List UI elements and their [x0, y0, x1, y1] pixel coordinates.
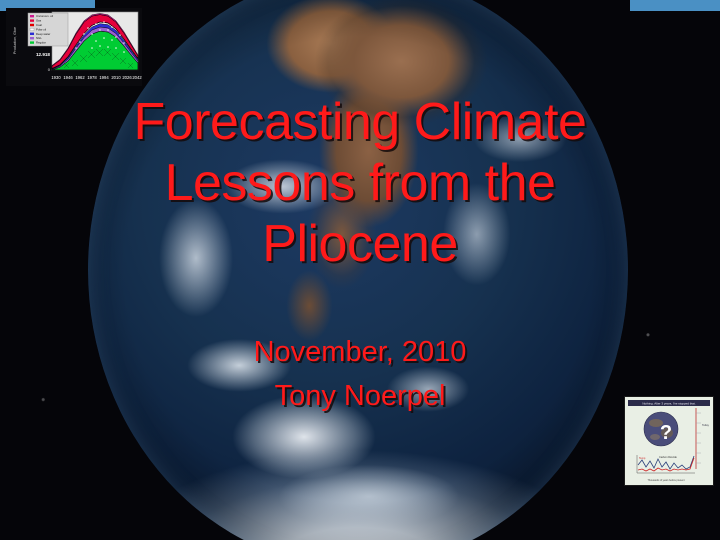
chart-x-tick-labels: 193019461962 197819942010 20262042 [51, 75, 142, 80]
svg-text:1962: 1962 [75, 75, 85, 80]
thumbnail-globe-land-c [650, 434, 660, 440]
slide-title: Forecasting Climate Lessons from the Pli… [40, 92, 680, 275]
svg-text:2026: 2026 [122, 75, 132, 80]
svg-text:1994: 1994 [99, 75, 109, 80]
svg-text:1978: 1978 [87, 75, 97, 80]
subtitle-author: Tony Noerpel [40, 374, 680, 418]
svg-text:Polar oil: Polar oil [36, 27, 46, 31]
fossil-fuel-production-chart: Production, Gtoe 51.6 38.7 25.8 12.918 0… [6, 8, 142, 86]
climate-question-thumbnail[interactable]: Nothing. After 3 years, I've stopped tha… [624, 396, 714, 486]
svg-text:Coal: Coal [36, 23, 42, 27]
svg-text:Deep water: Deep water [36, 32, 50, 36]
svg-text:1930: 1930 [51, 75, 61, 80]
chart-svg: Production, Gtoe 51.6 38.7 25.8 12.918 0… [6, 8, 142, 86]
slide-subtitle: November, 2010 Tony Noerpel [40, 330, 680, 418]
chart-ytick-3: 12.918 [36, 52, 50, 57]
chart-y-axis-label: Production, Gtoe [13, 27, 17, 54]
accent-bar-right [630, 0, 720, 11]
svg-text:NGL: NGL [36, 36, 42, 40]
svg-text:Gas: Gas [36, 19, 42, 23]
svg-text:2042: 2042 [132, 75, 142, 80]
thumbnail-axis-caption: Thousands of years before present [647, 479, 684, 482]
thumbnail-chart-label-left: Temp [639, 456, 646, 460]
presentation-slide: Production, Gtoe 51.6 38.7 25.8 12.918 0… [0, 0, 720, 540]
svg-text:2010: 2010 [111, 75, 121, 80]
svg-text:Regular: Regular [36, 41, 46, 45]
thumbnail-question-mark: ? [660, 422, 672, 444]
chart-legend: Unconven. oil Gas Coal Polar oil Deep wa… [28, 13, 68, 46]
svg-text:Unconven. oil: Unconven. oil [36, 14, 53, 18]
svg-text:1946: 1946 [63, 75, 73, 80]
thumbnail-chart-label-right: Today [702, 423, 710, 427]
subtitle-date: November, 2010 [40, 330, 680, 374]
thumbnail-svg: Nothing. After 3 years, I've stopped tha… [625, 397, 713, 485]
thumbnail-chart-label-centre: Carbon Dioxide [659, 455, 677, 459]
thumbnail-heading: Nothing. After 3 years, I've stopped tha… [642, 402, 695, 406]
